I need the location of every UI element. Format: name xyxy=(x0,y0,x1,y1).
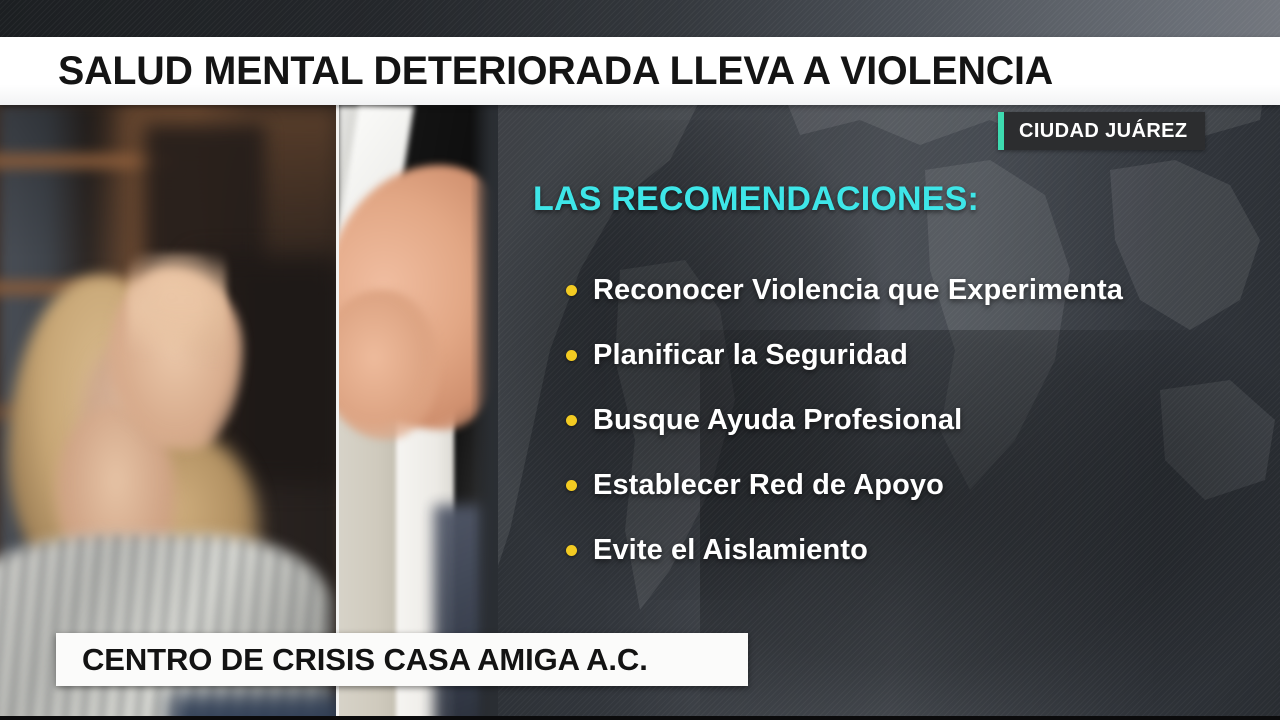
top-strip-texture xyxy=(0,0,1280,37)
top-strip xyxy=(0,0,1280,37)
location-badge-body: CIUDAD JUÁREZ xyxy=(1004,112,1205,150)
headline-text: SALUD MENTAL DETERIORADA LLEVA A VIOLENC… xyxy=(58,51,1053,91)
list-item: Planificar la Seguridad xyxy=(566,323,1266,388)
list-item: Busque Ayuda Profesional xyxy=(566,388,1266,453)
recommendations-list: Reconocer Violencia que Experimenta Plan… xyxy=(566,258,1266,583)
bottom-letterbox-edge xyxy=(0,716,1280,720)
lower-third-banner: CENTRO DE CRISIS CASA AMIGA A.C. xyxy=(56,633,748,686)
list-item-label: Planificar la Seguridad xyxy=(593,341,908,370)
photo-shirt-stripes xyxy=(0,535,330,720)
bullet-dot-icon xyxy=(566,415,577,426)
recommendations-panel: LAS RECOMENDACIONES: Reconocer Violencia… xyxy=(498,170,1280,630)
list-item: Establecer Red de Apoyo xyxy=(566,453,1266,518)
list-item-label: Busque Ayuda Profesional xyxy=(593,406,962,435)
list-item: Reconocer Violencia que Experimenta xyxy=(566,258,1266,323)
broadcast-graphic: SALUD MENTAL DETERIORADA LLEVA A VIOLENC… xyxy=(0,0,1280,720)
bullet-dot-icon xyxy=(566,480,577,491)
list-item-label: Evite el Aislamiento xyxy=(593,536,868,565)
bullet-dot-icon xyxy=(566,285,577,296)
location-badge: CIUDAD JUÁREZ xyxy=(998,112,1205,150)
photo-b-fist xyxy=(338,290,440,440)
photo-woman-fingers xyxy=(128,253,226,363)
location-badge-label: CIUDAD JUÁREZ xyxy=(1019,121,1188,141)
headline-bar: SALUD MENTAL DETERIORADA LLEVA A VIOLENC… xyxy=(0,37,1280,105)
photo-woman-shielding-face xyxy=(0,105,338,720)
list-item-label: Reconocer Violencia que Experimenta xyxy=(593,276,1123,305)
panel-heading: LAS RECOMENDACIONES: xyxy=(533,182,979,216)
list-item-label: Establecer Red de Apoyo xyxy=(593,471,944,500)
list-item: Evite el Aislamiento xyxy=(566,518,1266,583)
bullet-dot-icon xyxy=(566,350,577,361)
bullet-dot-icon xyxy=(566,545,577,556)
photo-seam-divider xyxy=(336,105,339,720)
photo-panel-fade xyxy=(470,105,498,720)
photo-collage xyxy=(0,105,498,720)
lower-third-label: CENTRO DE CRISIS CASA AMIGA A.C. xyxy=(82,644,648,675)
